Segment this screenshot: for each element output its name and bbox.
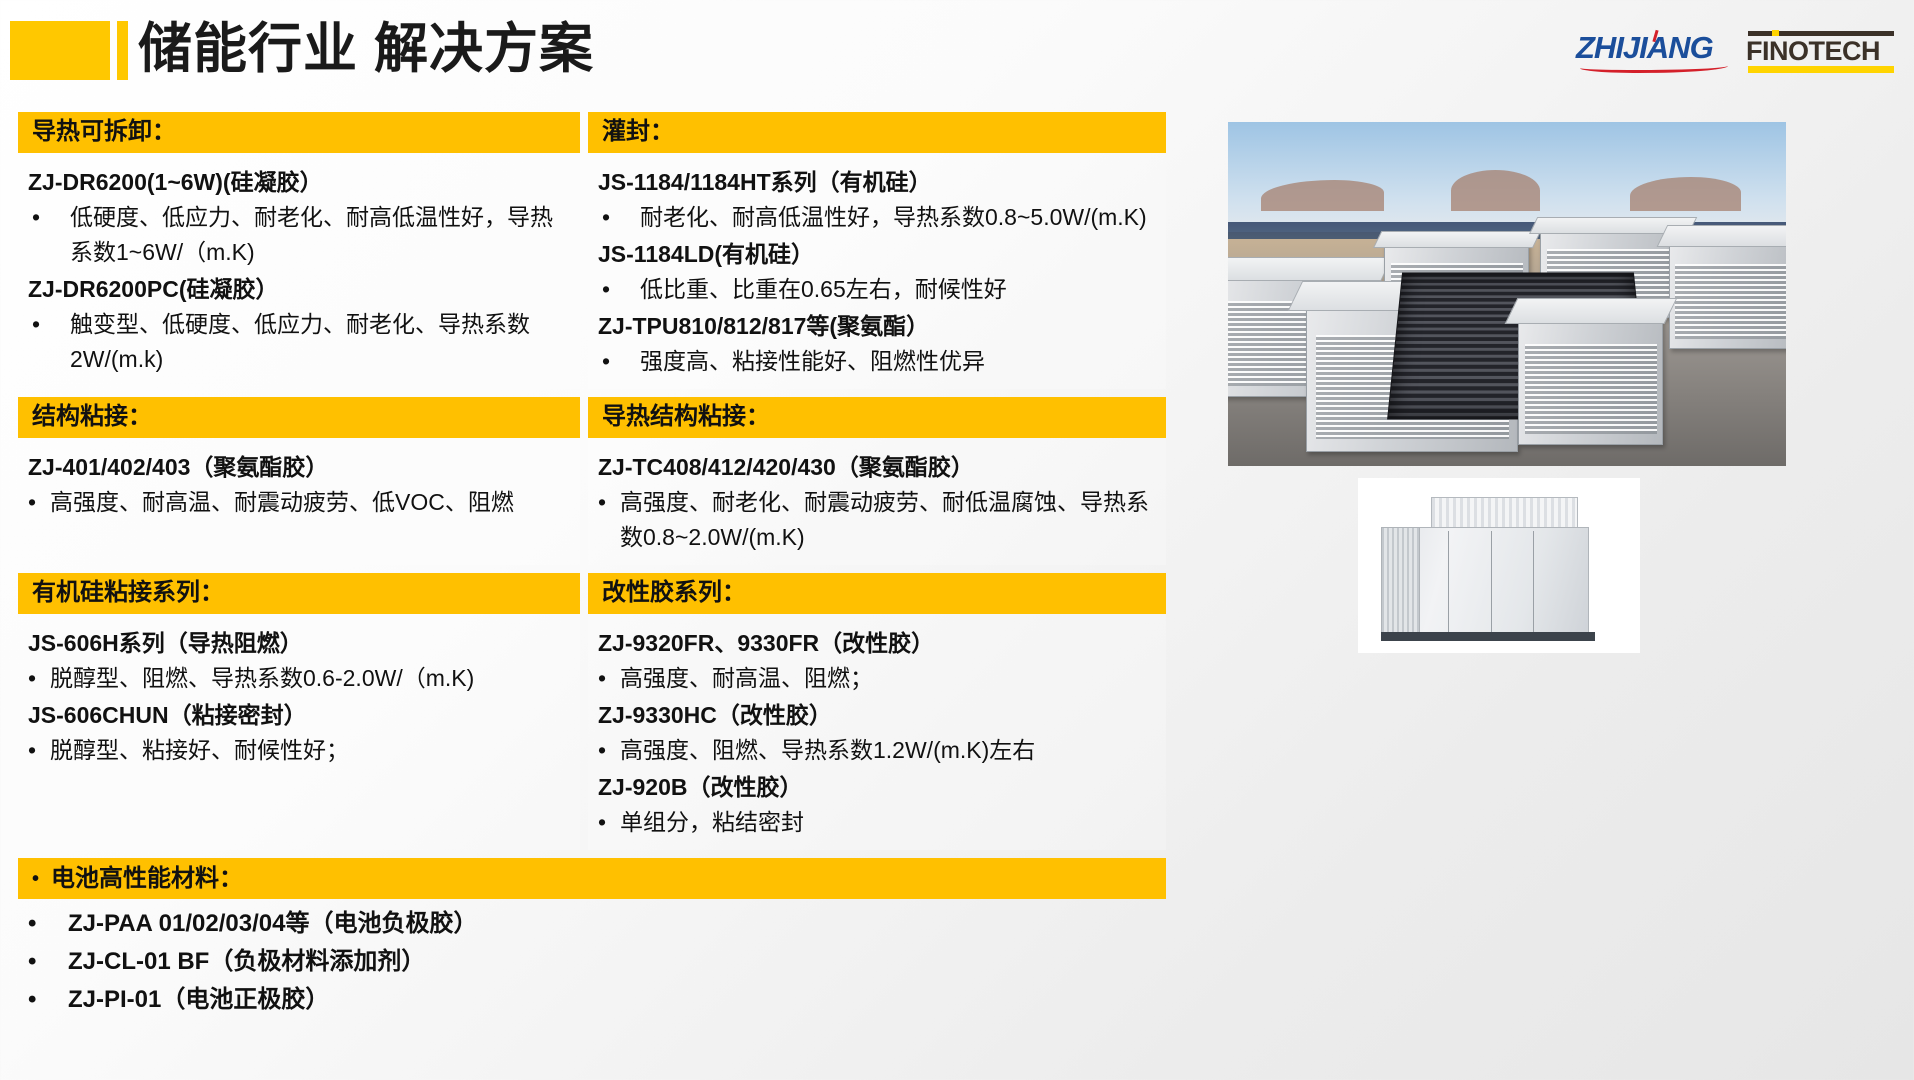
- bullet-dot-icon: •: [598, 805, 620, 840]
- bullet-dot-icon: •: [598, 344, 640, 379]
- right-illustration-panel: 储能电池 储能逆变器 EMS B: [1180, 0, 1914, 1080]
- photo-container: [1518, 315, 1663, 446]
- spec-section-bodies: ZJ-DR6200(1~6W)(硅凝胶）•低硬度、低应力、耐老化、耐高低温性好，…: [18, 153, 1166, 389]
- spec-bullet-text: 高强度、阻燃、导热系数1.2W/(m.K)左右: [620, 733, 1154, 768]
- spec-bullet-text: 高强度、耐高温、耐震动疲劳、低VOC、阻燃: [50, 485, 568, 520]
- spec-bullet: •脱醇型、粘接好、耐候性好；: [28, 733, 568, 768]
- spec-bullet: •高强度、耐老化、耐震动疲劳、耐低温腐蚀、导热系数0.8~2.0W/(m.K): [598, 485, 1154, 555]
- spec-bullet-text: 强度高、粘接性能好、阻燃性优异: [640, 344, 1154, 379]
- photo-mountain: [1630, 177, 1742, 211]
- storage-container-unit-photo: [1358, 478, 1640, 653]
- spec-bullet: •强度高、粘接性能好、阻燃性优异: [598, 344, 1154, 379]
- product-name: JS-1184/1184HT系列（有机硅）: [598, 165, 1154, 200]
- storage-container-farm-photo: [1228, 122, 1786, 466]
- bullet-dot-icon: •: [598, 485, 620, 520]
- bullet-dot-icon: •: [28, 981, 68, 1019]
- page-title: 储能行业 解决方案: [138, 12, 594, 86]
- unit-door-seam: [1448, 531, 1449, 633]
- battery-material-text: ZJ-PAA 01/02/03/04等（电池负极胶）: [68, 905, 477, 943]
- spec-section: 结构粘接：导热结构粘接：ZJ-401/402/403（聚氨酯胶）•高强度、耐高温…: [18, 397, 1166, 573]
- spec-bullet-text: 单组分，粘结密封: [620, 805, 1154, 840]
- spec-bullet: •触变型、低硬度、低应力、耐老化、导热系数2W/(m.k): [28, 307, 568, 377]
- bullet-dot-icon: •: [28, 943, 68, 981]
- spec-section-heading: 灌封：: [588, 112, 1166, 153]
- battery-materials-list: •ZJ-PAA 01/02/03/04等（电池负极胶）•ZJ-CL-01 BF（…: [18, 899, 1166, 1019]
- unit-door-seam: [1491, 531, 1492, 633]
- unit-door-seam: [1533, 531, 1534, 633]
- battery-materials-heading-text: 电池高性能材料：: [51, 864, 243, 894]
- unit-base: [1381, 632, 1595, 641]
- spec-bullet-text: 低硬度、低应力、耐老化、耐高低温性好，导热系数1~6W/（m.K): [70, 200, 568, 270]
- bullet-dot-icon: •: [28, 661, 50, 696]
- spec-section: 有机硅粘接系列：改性胶系列：JS-606H系列（导热阻燃）•脱醇型、阻燃、导热系…: [18, 573, 1166, 858]
- spec-column-left: ZJ-401/402/403（聚氨酯胶）•高强度、耐高温、耐震动疲劳、低VOC、…: [18, 438, 580, 565]
- product-name: ZJ-9330HC（改性胶）: [598, 698, 1154, 733]
- spec-section-headers: 结构粘接：导热结构粘接：: [18, 397, 1166, 438]
- bullet-dot-icon: •: [28, 307, 70, 342]
- header-accent-block: [10, 21, 110, 80]
- bullet-dot-icon: •: [28, 733, 50, 768]
- photo-mountain: [1451, 170, 1540, 211]
- spec-column-left: JS-606H系列（导热阻燃）•脱醇型、阻燃、导热系数0.6-2.0W/（m.K…: [18, 614, 580, 850]
- spec-section-heading: 导热可拆卸：: [18, 112, 580, 153]
- spec-bullet: •低硬度、低应力、耐老化、耐高低温性好，导热系数1~6W/（m.K): [28, 200, 568, 270]
- spec-section-headers: 导热可拆卸：灌封：: [18, 112, 1166, 153]
- row-separator: [18, 565, 1166, 573]
- product-name: ZJ-DR6200PC(硅凝胶）: [28, 272, 568, 307]
- battery-materials-section: •电池高性能材料：•ZJ-PAA 01/02/03/04等（电池负极胶）•ZJ-…: [18, 858, 1166, 1019]
- bullet-dot-icon: •: [28, 485, 50, 520]
- spec-bullet: •单组分，粘结密封: [598, 805, 1154, 840]
- row-separator: [18, 389, 1166, 397]
- product-name: JS-1184LD(有机硅）: [598, 237, 1154, 272]
- spec-bullet-text: 低比重、比重在0.65左右，耐候性好: [640, 272, 1154, 307]
- spec-bullet-text: 高强度、耐老化、耐震动疲劳、耐低温腐蚀、导热系数0.8~2.0W/(m.K): [620, 485, 1154, 555]
- battery-materials-heading: •电池高性能材料：: [18, 858, 1166, 899]
- spec-section-bodies: JS-606H系列（导热阻燃）•脱醇型、阻燃、导热系数0.6-2.0W/（m.K…: [18, 614, 1166, 850]
- spec-bullet-text: 脱醇型、阻燃、导热系数0.6-2.0W/（m.K): [50, 661, 568, 696]
- spec-bullet: •高强度、耐高温、阻燃；: [598, 661, 1154, 696]
- bullet-dot-icon: •: [598, 733, 620, 768]
- unit-corrugated-end: [1381, 527, 1420, 636]
- spec-section-heading: 结构粘接：: [18, 397, 580, 438]
- spec-bullet-text: 耐老化、耐高低温性好，导热系数0.8~5.0W/(m.K): [640, 200, 1154, 235]
- bullet-dot-icon: •: [32, 864, 39, 894]
- specification-table: 导热可拆卸：灌封：ZJ-DR6200(1~6W)(硅凝胶）•低硬度、低应力、耐老…: [18, 112, 1166, 1019]
- spec-bullet: •低比重、比重在0.65左右，耐候性好: [598, 272, 1154, 307]
- bullet-dot-icon: •: [598, 272, 640, 307]
- spec-bullet: •高强度、耐高温、耐震动疲劳、低VOC、阻燃: [28, 485, 568, 520]
- spec-section-heading: 有机硅粘接系列：: [18, 573, 580, 614]
- bullet-dot-icon: •: [28, 200, 70, 235]
- product-name: ZJ-920B（改性胶）: [598, 770, 1154, 805]
- product-name: ZJ-9320FR、9330FR（改性胶）: [598, 626, 1154, 661]
- spec-bullet-text: 高强度、耐高温、阻燃；: [620, 661, 1154, 696]
- photo-mountain: [1261, 180, 1384, 211]
- spec-column-right: ZJ-9320FR、9330FR（改性胶）•高强度、耐高温、阻燃；ZJ-9330…: [588, 614, 1166, 850]
- product-name: JS-606CHUN（粘接密封）: [28, 698, 568, 733]
- battery-material-text: ZJ-PI-01（电池正极胶）: [68, 981, 329, 1019]
- spec-column-right: JS-1184/1184HT系列（有机硅）•耐老化、耐高低温性好，导热系数0.8…: [588, 153, 1166, 389]
- battery-material-row: •ZJ-PAA 01/02/03/04等（电池负极胶）: [28, 905, 1166, 943]
- product-name: ZJ-401/402/403（聚氨酯胶）: [28, 450, 568, 485]
- spec-section-heading: 改性胶系列：: [588, 573, 1166, 614]
- spec-section-bodies: ZJ-401/402/403（聚氨酯胶）•高强度、耐高温、耐震动疲劳、低VOC、…: [18, 438, 1166, 565]
- spec-section: 导热可拆卸：灌封：ZJ-DR6200(1~6W)(硅凝胶）•低硬度、低应力、耐老…: [18, 112, 1166, 397]
- spec-bullet: •耐老化、耐高低温性好，导热系数0.8~5.0W/(m.K): [598, 200, 1154, 235]
- bullet-dot-icon: •: [28, 905, 68, 943]
- bullet-dot-icon: •: [598, 661, 620, 696]
- bullet-dot-icon: •: [598, 200, 640, 235]
- battery-material-row: •ZJ-CL-01 BF（负极材料添加剂）: [28, 943, 1166, 981]
- product-name: ZJ-TC408/412/420/430（聚氨酯胶）: [598, 450, 1154, 485]
- spec-bullet: •高强度、阻燃、导热系数1.2W/(m.K)左右: [598, 733, 1154, 768]
- spec-column-right: ZJ-TC408/412/420/430（聚氨酯胶）•高强度、耐老化、耐震动疲劳…: [588, 438, 1166, 565]
- battery-material-text: ZJ-CL-01 BF（负极材料添加剂）: [68, 943, 425, 981]
- photo-container: [1669, 239, 1786, 349]
- spec-section-headers: 有机硅粘接系列：改性胶系列：: [18, 573, 1166, 614]
- spec-bullet-text: 触变型、低硬度、低应力、耐老化、导热系数2W/(m.k): [70, 307, 568, 377]
- header-accent-bar: [117, 21, 128, 80]
- spec-bullet: •脱醇型、阻燃、导热系数0.6-2.0W/（m.K): [28, 661, 568, 696]
- spec-bullet-text: 脱醇型、粘接好、耐候性好；: [50, 733, 568, 768]
- battery-material-row: •ZJ-PI-01（电池正极胶）: [28, 981, 1166, 1019]
- product-name: JS-606H系列（导热阻燃）: [28, 626, 568, 661]
- spec-column-left: ZJ-DR6200(1~6W)(硅凝胶）•低硬度、低应力、耐老化、耐高低温性好，…: [18, 153, 580, 389]
- product-name: ZJ-DR6200(1~6W)(硅凝胶）: [28, 165, 568, 200]
- row-separator: [18, 850, 1166, 858]
- spec-section-heading: 导热结构粘接：: [588, 397, 1166, 438]
- product-name: ZJ-TPU810/812/817等(聚氨酯）: [598, 309, 1154, 344]
